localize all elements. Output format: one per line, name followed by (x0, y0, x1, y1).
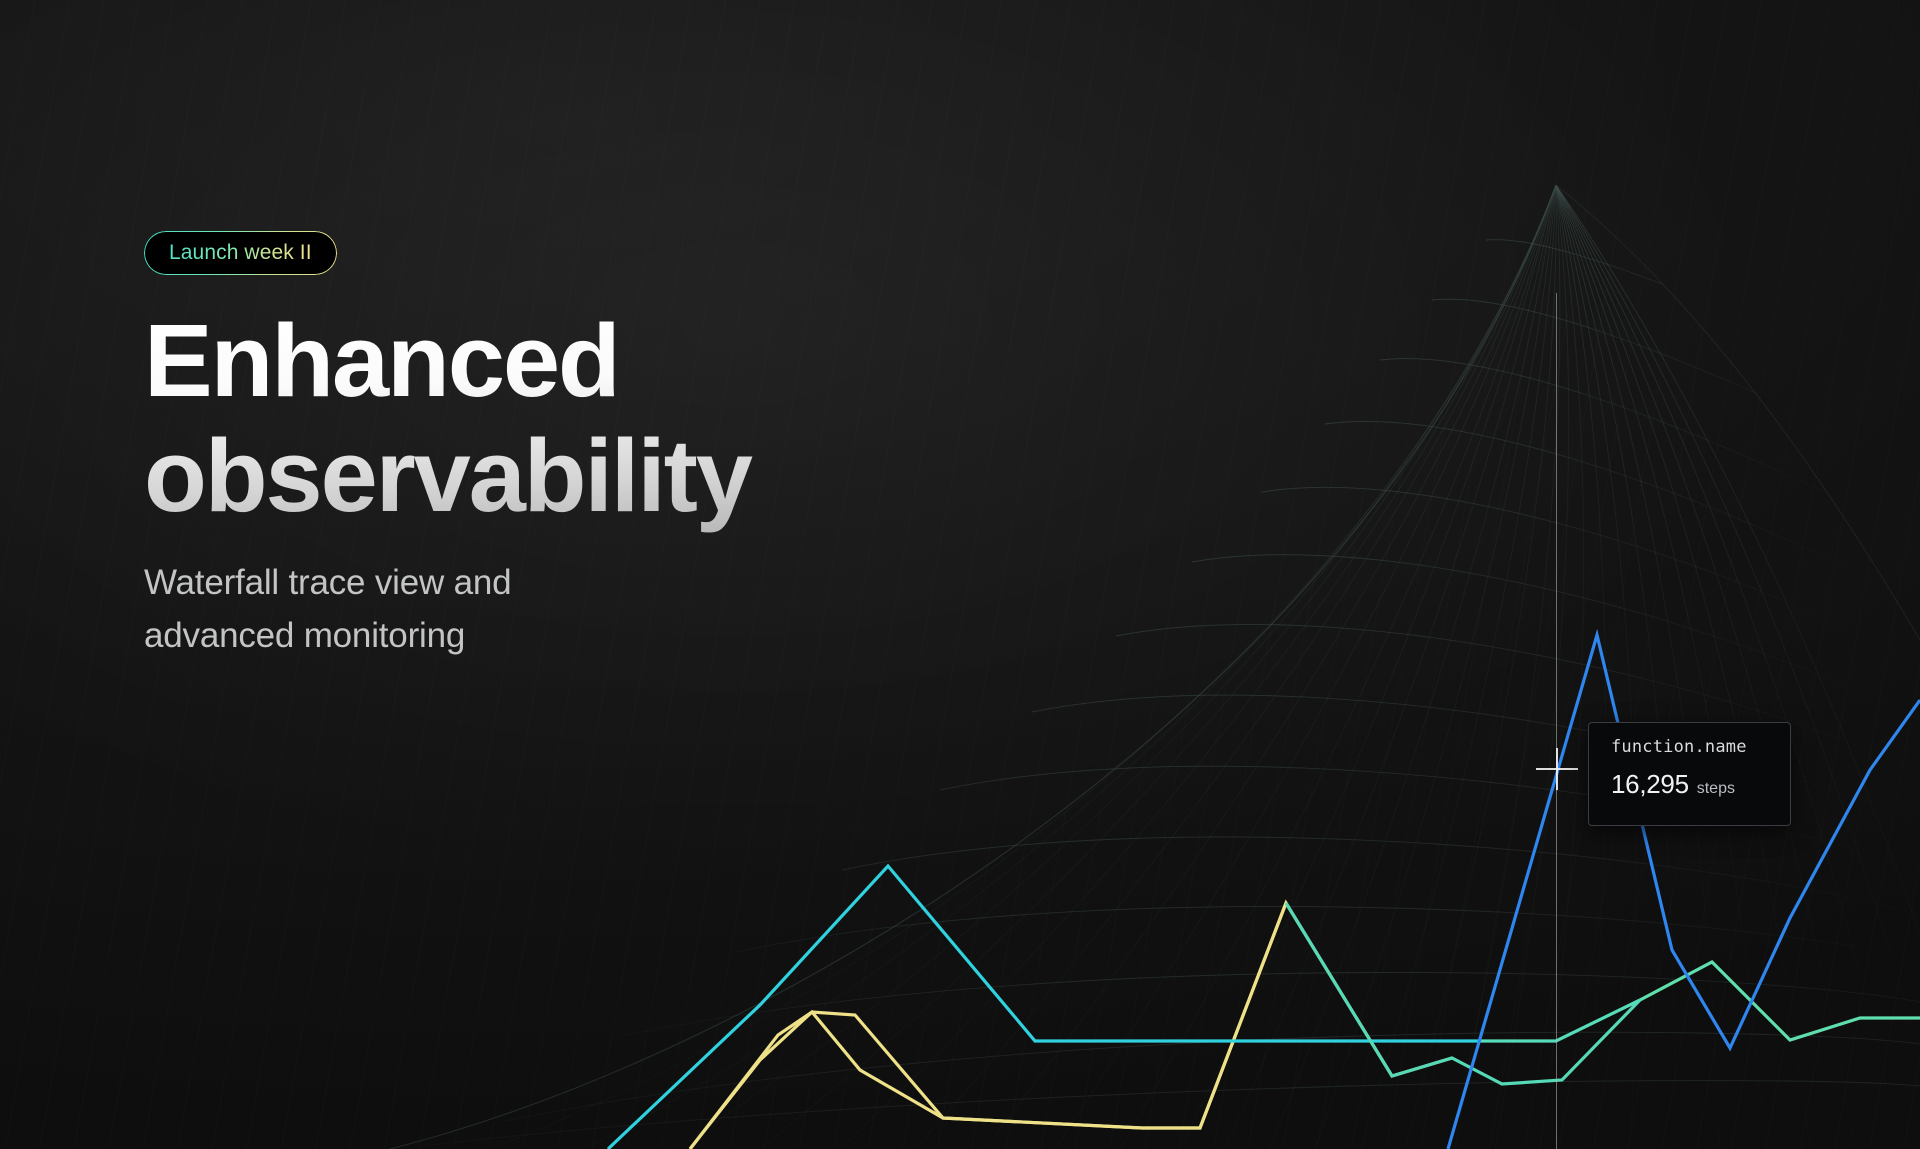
tooltip-unit: steps (1697, 781, 1735, 797)
page-subtitle-line-2: advanced monitoring (144, 609, 964, 662)
chart-series-teal-peak (1640, 962, 1920, 1040)
chart-series-blue (1448, 635, 1920, 1149)
chart-series-yellow-2 (690, 903, 1286, 1149)
page-subtitle-line-1: Waterfall trace view and (144, 556, 964, 609)
crosshair-marker-icon (1536, 748, 1578, 790)
tooltip-value-row: 16,295 steps (1611, 771, 1790, 797)
page-subtitle: Waterfall trace view and advanced monito… (144, 556, 964, 662)
tooltip-function-name: function.name (1611, 739, 1790, 756)
page-title-line-1: Enhanced (144, 303, 964, 418)
chart-series-cyan (608, 866, 1478, 1149)
page-title: Enhanced observability (144, 303, 964, 534)
launch-week-badge[interactable]: Launch week II (144, 231, 337, 275)
hero-content: Launch week II Enhanced observability Wa… (144, 231, 964, 662)
page-title-line-2: observability (144, 418, 964, 533)
chart-series-teal-right (1286, 903, 1640, 1084)
crosshair-vertical-line (1556, 293, 1557, 1149)
launch-week-badge-label: Launch week II (169, 241, 312, 265)
tooltip-value: 16,295 (1611, 771, 1689, 797)
chart-series-yellow (690, 903, 1452, 1149)
chart-tooltip: function.name 16,295 steps (1588, 722, 1791, 826)
hero-canvas: function.name 16,295 steps Launch week I… (0, 0, 1920, 1149)
chart-series-teal-tail (1478, 1000, 1640, 1041)
